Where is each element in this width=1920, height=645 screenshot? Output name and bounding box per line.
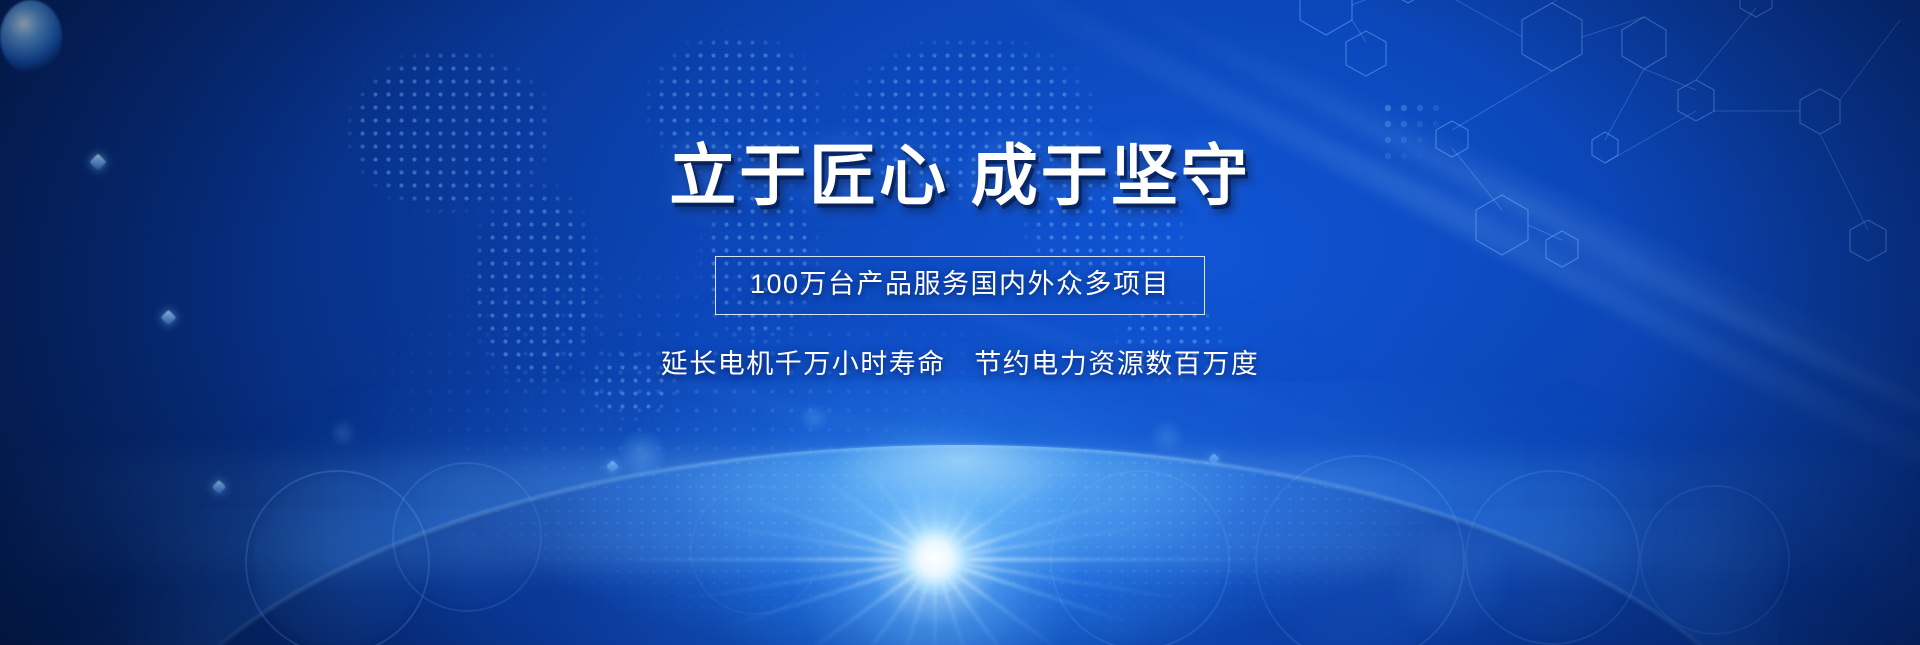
banner-headline: 立于匠心 成于坚守 <box>0 0 1920 212</box>
hero-banner: 立于匠心 成于坚守 100万台产品服务国内外众多项目 延长电机千万小时寿命 节约… <box>0 0 1920 645</box>
banner-subtitle-box: 100万台产品服务国内外众多项目 <box>715 256 1205 315</box>
banner-tagline: 延长电机千万小时寿命 节约电力资源数百万度 <box>0 315 1920 382</box>
banner-subtitle-text: 100万台产品服务国内外众多项目 <box>750 267 1170 302</box>
banner-content: 立于匠心 成于坚守 100万台产品服务国内外众多项目 延长电机千万小时寿命 节约… <box>0 0 1920 382</box>
light-burst-core <box>898 521 972 595</box>
